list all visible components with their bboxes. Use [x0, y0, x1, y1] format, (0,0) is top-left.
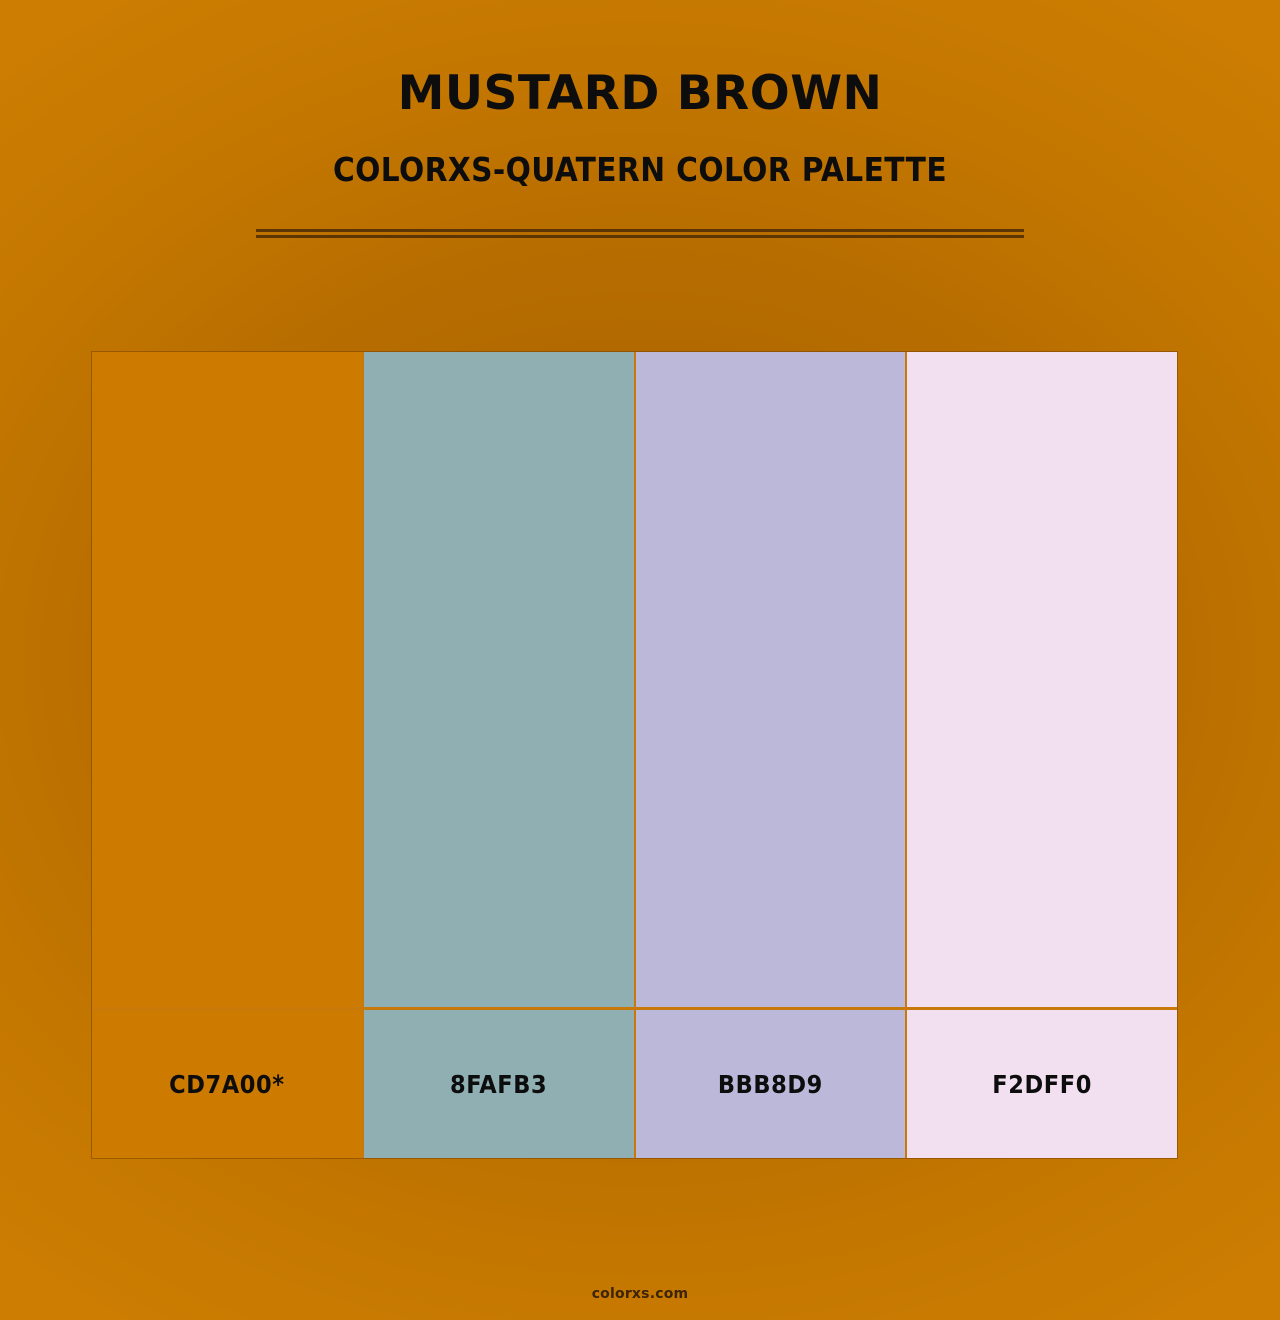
swatch-color-4[interactable]: [907, 352, 1177, 1010]
palette-page: MUSTARD BROWN COLORXS-QUATERN COLOR PALE…: [0, 0, 1280, 1320]
swatch-color-1[interactable]: [92, 352, 362, 1010]
page-title: MUSTARD BROWN: [0, 70, 1280, 117]
swatch-label-area-3: BBB8D9: [636, 1010, 906, 1158]
swatch-hex-label-2: 8FAFB3: [450, 1070, 547, 1099]
title-divider: [256, 229, 1024, 238]
swatch-label-area-4: F2DFF0: [907, 1010, 1177, 1158]
divider-line-upper: [256, 229, 1024, 232]
swatch-color-2[interactable]: [364, 352, 634, 1010]
swatch-column-3[interactable]: BBB8D9: [636, 352, 908, 1158]
swatch-column-2[interactable]: 8FAFB3: [364, 352, 636, 1158]
swatch-column-4[interactable]: F2DFF0: [907, 352, 1177, 1158]
page-subtitle: COLORXS-QUATERN COLOR PALETTE: [0, 153, 1280, 186]
color-palette: CD7A00* 8FAFB3 BBB8D9 F2DFF0: [92, 352, 1177, 1158]
divider-line-lower: [256, 235, 1024, 238]
swatch-hex-label-3: BBB8D9: [718, 1070, 823, 1099]
swatch-hex-label-1: CD7A00*: [169, 1070, 285, 1099]
swatch-column-1[interactable]: CD7A00*: [92, 352, 364, 1158]
swatch-hex-label-4: F2DFF0: [992, 1070, 1092, 1099]
page-header: MUSTARD BROWN COLORXS-QUATERN COLOR PALE…: [0, 0, 1280, 186]
footer-site-credit: colorxs.com: [0, 1286, 1280, 1302]
swatch-label-area-2: 8FAFB3: [364, 1010, 634, 1158]
swatch-label-area-1: CD7A00*: [92, 1010, 362, 1158]
swatch-color-3[interactable]: [636, 352, 906, 1010]
